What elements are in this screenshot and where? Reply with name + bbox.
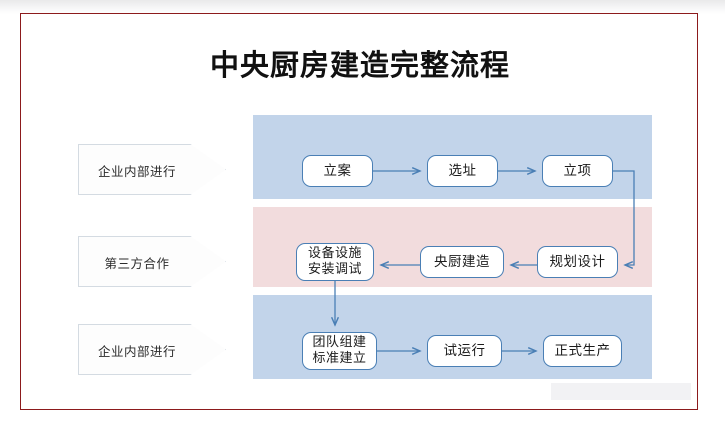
node-lixiang[interactable]: 立项 xyxy=(542,155,613,187)
lane-label-row1: 企业内部进行 xyxy=(78,144,226,195)
watermark xyxy=(551,383,691,400)
lane-label-row3-text: 企业内部进行 xyxy=(79,325,195,376)
slide-top-shading xyxy=(0,0,725,14)
lane-label-row3: 企业内部进行 xyxy=(78,324,226,375)
node-xuanzhi[interactable]: 选址 xyxy=(427,155,498,187)
page-title: 中央厨房建造完整流程 xyxy=(21,48,699,82)
node-yangchu-jianzao[interactable]: 央厨建造 xyxy=(420,246,504,278)
node-guihua-sheji[interactable]: 规划设计 xyxy=(537,246,618,278)
lane-label-row1-text: 企业内部进行 xyxy=(79,145,195,196)
node-shiyunxing[interactable]: 试运行 xyxy=(427,335,502,367)
node-shebei-anzhuang[interactable]: 设备设施 安装调试 xyxy=(296,243,374,281)
lane-label-row2: 第三方合作 xyxy=(78,236,226,287)
lane-label-row2-text: 第三方合作 xyxy=(79,237,195,288)
node-tuandui-zuJian[interactable]: 团队组建 标准建立 xyxy=(302,332,377,370)
node-zhengshi-shengchan[interactable]: 正式生产 xyxy=(543,335,622,367)
slide-frame: 中央厨房建造完整流程 企业内部进行 第三方合作 企业内部进行 xyxy=(20,13,698,410)
node-liban[interactable]: 立案 xyxy=(302,155,373,187)
